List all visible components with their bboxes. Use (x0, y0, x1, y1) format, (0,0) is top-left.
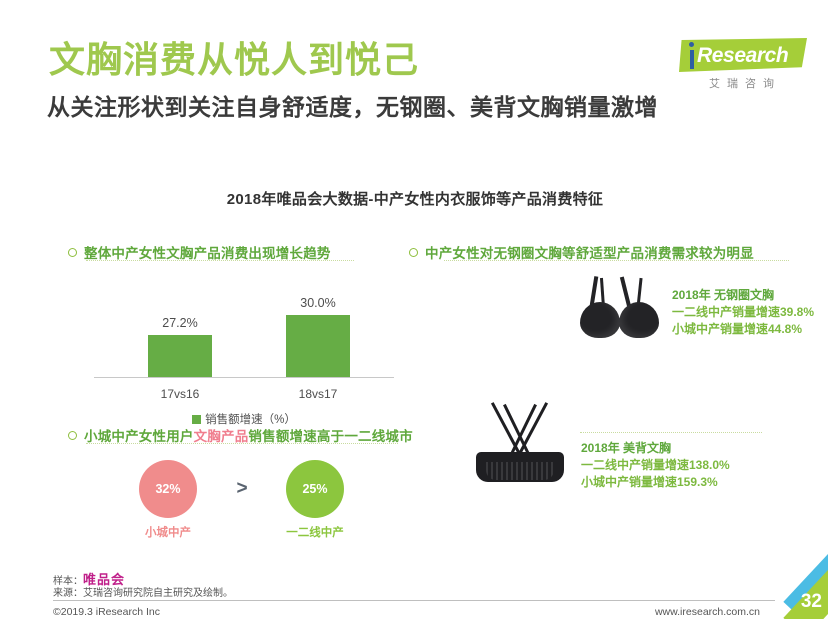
logo-wordmark: Research (697, 44, 788, 68)
beautiful-back-line1: 2018年 美背文胸 (581, 440, 730, 457)
slide-header: 文胸消费从悦人到悦己 从关注形状到关注自身舒适度，无钢圈、美背文胸销量激增 Re… (0, 0, 828, 150)
bullet-circle-icon (68, 431, 77, 440)
heading-highlight: 文胸产品 (194, 429, 249, 444)
bar-value-17vs16: 27.2% (135, 316, 225, 330)
chart-panel-title: 2018年唯品会大数据-中产女性内衣服饰等产品消费特征 (24, 188, 806, 209)
iresearch-logo: Research 艾瑞咨询 (671, 38, 811, 94)
heading-left-top: 整体中产女性文胸产品消费出现增长趋势 (68, 242, 331, 262)
logo-i-dot-icon (689, 42, 694, 47)
bar-chart: 27.2% 17vs16 30.0% 18vs17 销售额增速（%） (94, 280, 394, 415)
heading-left-bottom: 小城中产女性用户文胸产品销售额增速高于一二线城市 (68, 425, 413, 445)
footer-source: 来源：艾瑞咨询研究院自主研究及绘制。 (53, 584, 233, 599)
heading-left-top-underline (86, 260, 354, 261)
heading-left-bottom-label: 小城中产女性用户文胸产品销售额增速高于一二线城市 (84, 425, 413, 445)
beautiful-back-underline (580, 432, 762, 433)
bar-category-18vs17: 18vs17 (273, 387, 363, 401)
slide-footer: 样本：唯品会 来源：艾瑞咨询研究院自主研究及绘制。 ©2019.3 iResea… (0, 560, 828, 619)
page-corner-decoration: 32 (768, 545, 828, 619)
comparator-symbol: > (229, 478, 255, 500)
logo-chinese-name: 艾瑞咨询 (683, 75, 807, 91)
chart-baseline (94, 377, 394, 378)
bar-value-18vs17: 30.0% (273, 296, 363, 310)
heading-right-top-label: 中产女性对无钢圈文胸等舒适型产品消费需求较为明显 (425, 242, 754, 262)
comparison-circles: 32% 小城中产 > 25% 一二线中产 (94, 460, 394, 555)
bra-cup-left (580, 302, 620, 338)
content-panel: 2018年唯品会大数据-中产女性内衣服饰等产品消费特征 整体中产女性文胸产品消费… (24, 170, 806, 555)
page-title: 文胸消费从悦人到悦己 (49, 38, 419, 82)
logo-i-stem-icon (690, 50, 694, 69)
bra-lace-detail (486, 462, 554, 480)
page-subtitle: 从关注形状到关注自身舒适度，无钢圈、美背文胸销量激增 (47, 92, 658, 122)
footer-divider (53, 600, 775, 601)
circle-tier12-label: 一二线中产 (265, 524, 365, 540)
beautiful-back-bra-stats: 2018年 美背文胸 一二线中产销量增速138.0% 小城中产销量增速159.3… (581, 440, 730, 491)
wireless-bra-image (572, 276, 668, 340)
heading-left-top-label: 整体中产女性文胸产品消费出现增长趋势 (84, 242, 331, 262)
heading-right-top: 中产女性对无钢圈文胸等舒适型产品消费需求较为明显 (409, 242, 754, 262)
bar-18vs17 (286, 315, 350, 377)
page-number: 32 (801, 591, 822, 613)
footer-copyright: ©2019.3 iResearch Inc (53, 606, 160, 618)
heading-left-bottom-underline (86, 443, 398, 444)
bra-cup-right (619, 302, 659, 338)
footer-url[interactable]: www.iresearch.com.cn (655, 606, 760, 618)
wireless-bra-stats: 2018年 无钢圈文胸 一二线中产销量增速39.8% 小城中产销量增速44.8% (672, 287, 814, 338)
wireless-bra-line2: 一二线中产销量增速39.8% (672, 304, 814, 321)
circle-small-city: 32% (139, 460, 197, 518)
slide: 文胸消费从悦人到悦己 从关注形状到关注自身舒适度，无钢圈、美背文胸销量激增 Re… (0, 0, 828, 619)
wireless-bra-line1: 2018年 无钢圈文胸 (672, 287, 814, 304)
heading-part-a: 小城中产女性用户 (84, 429, 194, 444)
bar-17vs16 (148, 335, 212, 377)
heading-right-top-underline (444, 260, 789, 261)
bullet-circle-icon (409, 248, 418, 257)
bullet-circle-icon (68, 248, 77, 257)
heading-part-b: 销售额增速高于一二线城市 (248, 429, 412, 444)
beautiful-back-line2: 一二线中产销量增速138.0% (581, 457, 730, 474)
circle-small-city-label: 小城中产 (118, 524, 218, 540)
wireless-bra-line3: 小城中产销量增速44.8% (672, 321, 814, 338)
circle-tier12: 25% (286, 460, 344, 518)
legend-swatch-icon (192, 415, 201, 424)
beautiful-back-bra-image (470, 398, 570, 482)
bar-category-17vs16: 17vs16 (135, 387, 225, 401)
beautiful-back-line3: 小城中产销量增速159.3% (581, 474, 730, 491)
